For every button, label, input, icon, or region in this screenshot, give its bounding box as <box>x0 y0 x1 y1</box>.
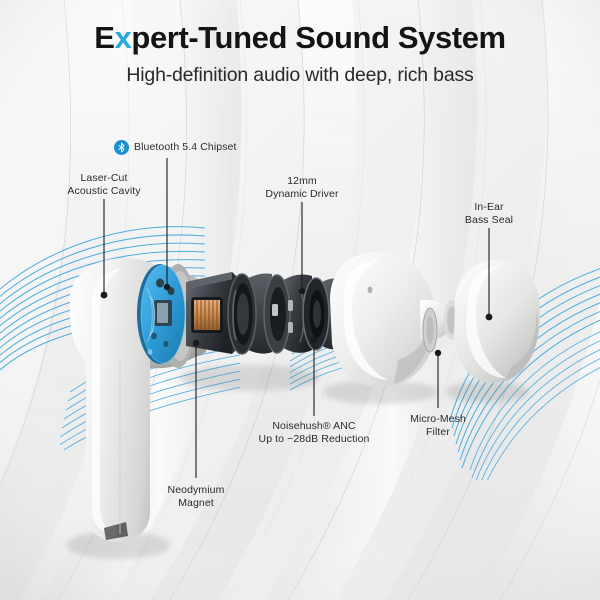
page-subtitle: High-definition audio with deep, rich ba… <box>0 53 600 87</box>
callout-micro-mesh-filter: Micro-Mesh Filter <box>382 413 494 438</box>
callout-neodymium-line2: Magnet <box>140 497 252 510</box>
leader-dot-bass-seal <box>486 314 493 321</box>
callout-acoustic-cavity-line2: Acoustic Cavity <box>48 185 160 198</box>
title-highlight-x: x <box>115 20 132 55</box>
page-title: Expert-Tuned Sound System <box>0 0 600 53</box>
callout-laser-cut-acoustic-cavity: Laser-Cut Acoustic Cavity <box>48 172 160 197</box>
leader-dot-anc <box>311 337 317 343</box>
callout-anc-line1: Noisehush® ANC <box>272 420 355 432</box>
callout-leader-lines <box>0 0 600 600</box>
title-part-2: pert-Tuned Sound System <box>131 20 505 55</box>
callout-acoustic-cavity-line1: Laser-Cut <box>80 172 127 184</box>
leader-dot-acoustic-cavity <box>101 292 108 299</box>
bluetooth-icon <box>114 140 129 155</box>
callout-anc-line2: Up to −28dB Reduction <box>240 433 388 446</box>
leader-dot-neodymium <box>193 340 199 346</box>
callout-bluetooth-chipset: Bluetooth 5.4 Chipset <box>114 140 237 155</box>
callout-in-ear-bass-seal: In-Ear Bass Seal <box>433 201 545 226</box>
callout-anc: Noisehush® ANC Up to −28dB Reduction <box>240 420 388 445</box>
leader-dot-micro-mesh <box>435 350 441 356</box>
callout-dynamic-driver-line1: 12mm <box>287 175 317 187</box>
callout-neodymium-magnet: Neodymium Magnet <box>140 484 252 509</box>
callout-bass-seal-line2: Bass Seal <box>433 214 545 227</box>
callout-micro-mesh-line1: Micro-Mesh <box>410 413 466 425</box>
leader-dot-dynamic-driver <box>299 288 305 294</box>
callout-micro-mesh-line2: Filter <box>382 426 494 439</box>
leader-dot-bluetooth <box>164 284 170 290</box>
callout-bass-seal-line1: In-Ear <box>474 201 503 213</box>
callout-dynamic-driver: 12mm Dynamic Driver <box>246 175 358 200</box>
infographic-canvas: Expert-Tuned Sound System High-definitio… <box>0 0 600 600</box>
title-part-1: E <box>94 20 114 55</box>
callout-bluetooth-label: Bluetooth 5.4 Chipset <box>134 141 237 154</box>
callout-dynamic-driver-line2: Dynamic Driver <box>246 188 358 201</box>
header-block: Expert-Tuned Sound System High-definitio… <box>0 0 600 87</box>
callout-neodymium-line1: Neodymium <box>168 484 225 496</box>
